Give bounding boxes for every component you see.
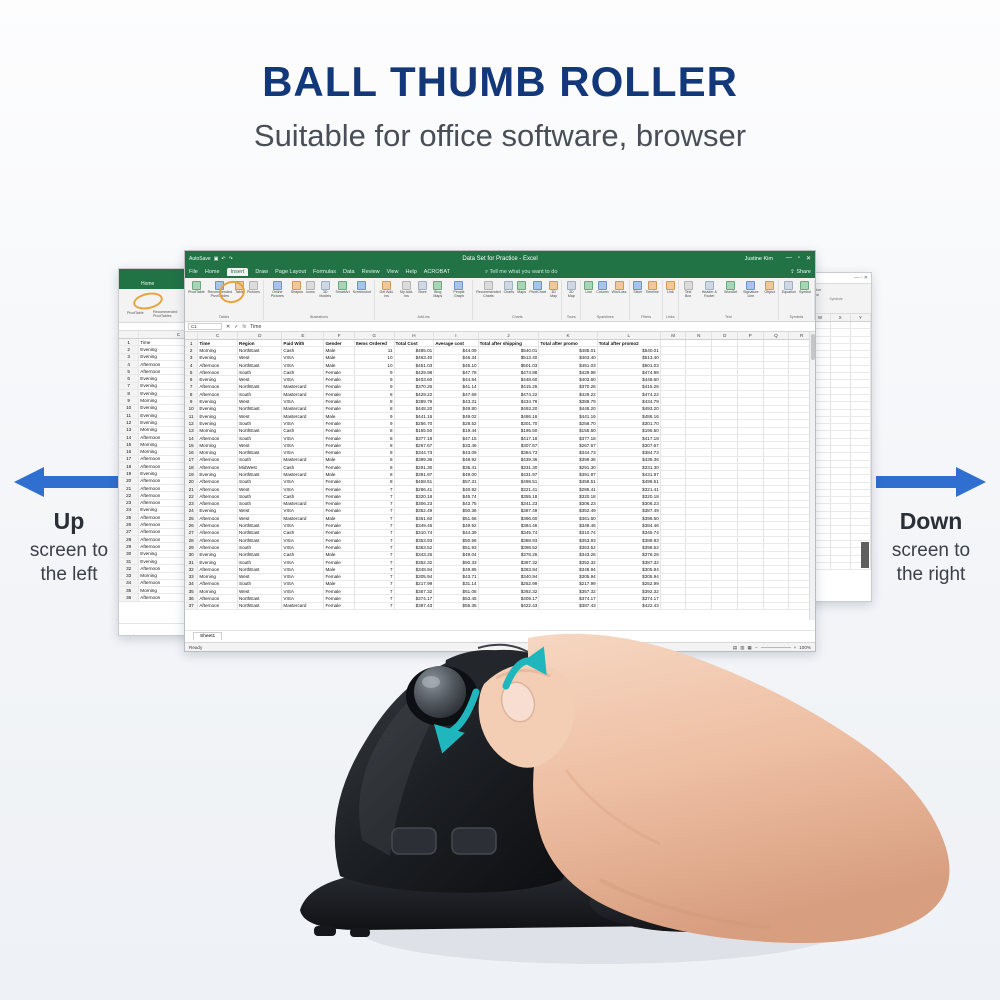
cell[interactable]: $43.71	[434, 573, 478, 580]
cell[interactable]: Female	[324, 464, 354, 471]
cell[interactable]: NorthEast	[238, 529, 282, 536]
row-header-32[interactable]: 32	[185, 566, 198, 573]
cell[interactable]: Evening	[198, 412, 238, 419]
cell[interactable]: $387.49	[478, 507, 539, 514]
column-header-E[interactable]: E	[282, 332, 324, 340]
column-header-N[interactable]: N	[686, 332, 712, 340]
cell[interactable]	[712, 537, 738, 544]
cell[interactable]	[737, 347, 763, 354]
cell[interactable]	[763, 493, 789, 500]
cell[interactable]	[686, 500, 712, 507]
cell[interactable]: $485.01	[539, 347, 597, 354]
cell[interactable]	[850, 322, 870, 329]
cell[interactable]	[830, 358, 850, 365]
cell[interactable]	[686, 471, 712, 478]
ribbon-button-slicer[interactable]: Slicer	[633, 281, 642, 295]
cell[interactable]	[850, 497, 870, 504]
cell[interactable]	[686, 340, 712, 347]
cell[interactable]: Female	[324, 493, 354, 500]
cell[interactable]: NorthEast	[238, 427, 282, 434]
cell[interactable]: Afternoon	[198, 515, 238, 522]
cell[interactable]	[830, 336, 850, 343]
ribbon-button-equation[interactable]: Equation	[782, 281, 796, 295]
background-row-header-28[interactable]: 28	[119, 536, 139, 543]
cell[interactable]: Afternoon	[198, 595, 238, 602]
cell[interactable]	[737, 537, 763, 544]
cell[interactable]: $429.22	[394, 391, 434, 398]
vertical-scrollbar[interactable]	[809, 332, 815, 620]
cell[interactable]: Afternoon	[198, 478, 238, 485]
cell[interactable]: $345.74	[597, 529, 660, 536]
ribbon-button-signature-line[interactable]: Signature Line	[740, 281, 761, 298]
cell[interactable]: Morning	[198, 449, 238, 456]
ribbon-button-pictures[interactable]: Pictures	[247, 281, 260, 295]
background-row-header-6[interactable]: 6	[119, 375, 139, 382]
cell[interactable]	[660, 361, 686, 368]
cell[interactable]	[763, 434, 789, 441]
cell[interactable]: $396.60	[597, 515, 660, 522]
formula-content[interactable]: Time	[250, 324, 261, 330]
cell[interactable]: $448.60	[597, 376, 660, 383]
cell[interactable]	[660, 500, 686, 507]
cell[interactable]	[712, 369, 738, 376]
cell[interactable]	[686, 449, 712, 456]
cell[interactable]: $320.18	[539, 493, 597, 500]
background-row-header-8[interactable]: 8	[119, 390, 139, 397]
background-row-header-15[interactable]: 15	[119, 441, 139, 448]
cell[interactable]: Cash	[282, 369, 324, 376]
table-row[interactable]: 1TimeRegionPaid WithGenderItems OrderedT…	[185, 340, 815, 347]
cell[interactable]: $387.32	[478, 558, 539, 565]
cell[interactable]	[830, 438, 850, 445]
cell[interactable]: South	[238, 544, 282, 551]
cell[interactable]	[660, 478, 686, 485]
cell[interactable]: 9	[354, 420, 394, 427]
cell[interactable]	[763, 449, 789, 456]
cell[interactable]	[763, 551, 789, 558]
cell[interactable]: NorthEast	[238, 361, 282, 368]
cell[interactable]	[686, 522, 712, 529]
cell[interactable]	[763, 369, 789, 376]
ribbon-button-screenshot[interactable]: Screenshot	[353, 281, 371, 295]
cell[interactable]	[712, 558, 738, 565]
cell[interactable]: $252.99	[597, 580, 660, 587]
column-header-I[interactable]: I	[434, 332, 478, 340]
cell[interactable]	[830, 394, 850, 401]
cell[interactable]	[660, 522, 686, 529]
cell[interactable]: $389.79	[394, 398, 434, 405]
cell[interactable]: $361.60	[539, 515, 597, 522]
cell[interactable]: $392.32	[597, 588, 660, 595]
cell[interactable]: Afternoon	[198, 566, 238, 573]
cell[interactable]: Female	[324, 573, 354, 580]
background-row-header-29[interactable]: 29	[119, 543, 139, 550]
column-header-J[interactable]: J	[478, 332, 539, 340]
cell[interactable]	[850, 453, 870, 460]
cell[interactable]: Cash	[282, 551, 324, 558]
cell[interactable]: $434.79	[478, 398, 539, 405]
row-header-3[interactable]: 3	[185, 354, 198, 361]
ribbon-button-smartart[interactable]: SmartArt	[336, 281, 350, 295]
cell[interactable]	[712, 478, 738, 485]
cell[interactable]: Region	[238, 340, 282, 347]
row-header-6[interactable]: 6	[185, 376, 198, 383]
cell[interactable]: $155.50	[539, 427, 597, 434]
cell[interactable]: South	[238, 493, 282, 500]
cell[interactable]: $51.93	[434, 544, 478, 551]
background-row-header-33[interactable]: 33	[119, 572, 139, 579]
background-row-header-9[interactable]: 9	[119, 397, 139, 404]
cell[interactable]	[660, 580, 686, 587]
cell[interactable]	[850, 424, 870, 431]
cell[interactable]: VISA	[282, 522, 324, 529]
column-header-O[interactable]: O	[712, 332, 738, 340]
cell[interactable]: $387.49	[597, 507, 660, 514]
cell[interactable]: Male	[324, 347, 354, 354]
cell[interactable]: $501.03	[478, 361, 539, 368]
cell[interactable]	[660, 456, 686, 463]
ribbon-tab-formulas[interactable]: Formulas	[313, 269, 336, 275]
cell[interactable]: $415.26	[478, 383, 539, 390]
cell[interactable]: Female	[324, 383, 354, 390]
ribbon-tab-home[interactable]: Home	[205, 269, 220, 275]
row-header-29[interactable]: 29	[185, 544, 198, 551]
background-row-header-24[interactable]: 24	[119, 506, 139, 513]
cell[interactable]: $439.36	[597, 456, 660, 463]
cell[interactable]: Afternoon	[198, 493, 238, 500]
cell[interactable]	[712, 456, 738, 463]
cell[interactable]: $431.97	[597, 471, 660, 478]
cell[interactable]: South	[238, 434, 282, 441]
background-row-header-10[interactable]: 10	[119, 404, 139, 411]
cell[interactable]: Morning	[198, 573, 238, 580]
table-row[interactable]: 19EveningNorthEastMastercardMale8$391.97…	[185, 471, 815, 478]
row-header-15[interactable]: 15	[185, 442, 198, 449]
cell[interactable]: $307.67	[478, 442, 539, 449]
cell[interactable]	[830, 380, 850, 387]
cell[interactable]	[830, 329, 850, 336]
row-header-9[interactable]: 9	[185, 398, 198, 405]
cell[interactable]: Total Cost	[394, 340, 434, 347]
cell[interactable]	[737, 420, 763, 427]
table-row[interactable]: 23AfternoonSouthMastercardFemale7$306.23…	[185, 500, 815, 507]
cell[interactable]: Male	[324, 551, 354, 558]
side-button-back[interactable]	[392, 828, 436, 854]
cell[interactable]	[763, 544, 789, 551]
window-buttons[interactable]: — ▫ ✕	[786, 255, 811, 262]
cell[interactable]: $49.92	[434, 456, 478, 463]
cell[interactable]	[830, 365, 850, 372]
cell[interactable]: $331.30	[597, 464, 660, 471]
ribbon-button-pivottable[interactable]: PivotTable	[188, 281, 205, 295]
table-row[interactable]: 11EveningWestMastercardMale9$441.16$49.0…	[185, 412, 815, 419]
background-row-header-30[interactable]: 30	[119, 550, 139, 557]
table-row[interactable]: 6EveningWestVISAFemale9$403.60$44.84$448…	[185, 376, 815, 383]
cell[interactable]: NorthEast	[238, 602, 282, 609]
cell[interactable]	[830, 489, 850, 496]
cell[interactable]: Afternoon	[198, 464, 238, 471]
cell[interactable]: 8	[354, 405, 394, 412]
cell[interactable]: 7	[354, 595, 394, 602]
cell[interactable]: 8	[354, 442, 394, 449]
cell[interactable]	[850, 373, 870, 380]
ribbon-button-symbol[interactable]: Symbol	[799, 281, 811, 295]
cell[interactable]	[660, 515, 686, 522]
cell[interactable]: $389.79	[539, 398, 597, 405]
cell[interactable]	[830, 548, 850, 555]
cell[interactable]: NorthEast	[238, 537, 282, 544]
cell[interactable]: $493.20	[478, 405, 539, 412]
cell[interactable]: West	[238, 573, 282, 580]
cell[interactable]: $47.69	[434, 391, 478, 398]
cell[interactable]: $493.20	[597, 405, 660, 412]
cell[interactable]: West	[238, 442, 282, 449]
cell[interactable]	[763, 500, 789, 507]
cell[interactable]: $387.32	[597, 558, 660, 565]
cell[interactable]: Mastercard	[282, 391, 324, 398]
cell[interactable]: $388.93	[597, 537, 660, 544]
cell[interactable]: West	[238, 412, 282, 419]
cell[interactable]	[830, 453, 850, 460]
cell[interactable]: 8	[354, 456, 394, 463]
cell[interactable]	[712, 464, 738, 471]
row-header-27[interactable]: 27	[185, 529, 198, 536]
cell[interactable]	[830, 482, 850, 489]
cell[interactable]: $448.20	[539, 405, 597, 412]
cell[interactable]	[737, 464, 763, 471]
cell[interactable]: NorthEast	[238, 551, 282, 558]
cell[interactable]	[763, 420, 789, 427]
row-header-2[interactable]: 2	[185, 347, 198, 354]
cell[interactable]: 11	[354, 347, 394, 354]
cell[interactable]: Evening	[198, 398, 238, 405]
cell[interactable]	[763, 347, 789, 354]
cell[interactable]	[850, 504, 870, 511]
cell[interactable]	[737, 478, 763, 485]
cell[interactable]	[850, 365, 870, 372]
cell[interactable]: $388.93	[478, 537, 539, 544]
cell[interactable]: $50.56	[434, 537, 478, 544]
cell[interactable]: $341.23	[478, 500, 539, 507]
cell[interactable]: $374.17	[394, 595, 434, 602]
cell[interactable]	[712, 544, 738, 551]
row-header-34[interactable]: 34	[185, 580, 198, 587]
cell[interactable]: $513.40	[478, 354, 539, 361]
cell[interactable]: $31.14	[434, 580, 478, 587]
cell[interactable]: NorthEast	[238, 595, 282, 602]
column-header-M[interactable]: M	[660, 332, 686, 340]
cell[interactable]: $403.60	[394, 376, 434, 383]
ribbon[interactable]: PivotTableRecommended PivotTablesTablePi…	[185, 278, 815, 322]
cell[interactable]: South	[238, 420, 282, 427]
cell[interactable]: Total after promo2	[597, 340, 660, 347]
column-header-D[interactable]: D	[238, 332, 282, 340]
cell[interactable]: VISA	[282, 485, 324, 492]
cell[interactable]: $377.18	[394, 434, 434, 441]
cell[interactable]: $310.74	[394, 529, 434, 536]
cell[interactable]: $345.74	[478, 529, 539, 536]
cell[interactable]	[737, 456, 763, 463]
cell[interactable]: $374.17	[597, 595, 660, 602]
cell[interactable]: Female	[324, 405, 354, 412]
cell[interactable]	[850, 475, 870, 482]
cell[interactable]: $51.05	[434, 588, 478, 595]
cell[interactable]	[763, 515, 789, 522]
cell[interactable]: $306.23	[539, 500, 597, 507]
cell[interactable]: Female	[324, 558, 354, 565]
ribbon-tab-file[interactable]: File	[189, 269, 198, 275]
cell[interactable]	[763, 588, 789, 595]
cell[interactable]: $45.74	[434, 493, 478, 500]
cell[interactable]	[660, 464, 686, 471]
cell[interactable]: $391.97	[394, 471, 434, 478]
cell[interactable]	[737, 361, 763, 368]
cell[interactable]: $320.18	[394, 493, 434, 500]
cell[interactable]: VISA	[282, 376, 324, 383]
cell[interactable]	[830, 475, 850, 482]
cell[interactable]: $463.40	[539, 354, 597, 361]
table-row[interactable]: 22AfternoonSouthCashFemale7$320.18$45.74…	[185, 493, 815, 500]
cell[interactable]	[763, 391, 789, 398]
background-right-window-buttons[interactable]: — ▫ ✕	[854, 275, 868, 281]
cell[interactable]	[686, 434, 712, 441]
cell[interactable]	[712, 354, 738, 361]
cell[interactable]	[737, 595, 763, 602]
table-row[interactable]: 31EveningSouthVISAFemale7$352.32$50.33$3…	[185, 558, 815, 565]
cell[interactable]	[686, 420, 712, 427]
cell[interactable]	[660, 566, 686, 573]
cell[interactable]: Evening	[198, 420, 238, 427]
cell[interactable]: $448.60	[478, 376, 539, 383]
cell[interactable]	[686, 361, 712, 368]
cell[interactable]	[660, 507, 686, 514]
background-row-header-17[interactable]: 17	[119, 455, 139, 462]
row-header-35[interactable]: 35	[185, 588, 198, 595]
row-header-25[interactable]: 25	[185, 515, 198, 522]
background-row-header-31[interactable]: 31	[119, 557, 139, 564]
cell[interactable]: $357.32	[539, 588, 597, 595]
cell[interactable]: $540.01	[597, 347, 660, 354]
cell[interactable]: $267.67	[394, 442, 434, 449]
cell[interactable]: Mastercard	[282, 602, 324, 609]
table-row[interactable]: 26AfternoonNorthEastVISAFemale7$349.46$4…	[185, 522, 815, 529]
cell[interactable]	[763, 354, 789, 361]
cell[interactable]	[660, 544, 686, 551]
cell[interactable]: Female	[324, 588, 354, 595]
cell[interactable]: $374.17	[539, 595, 597, 602]
cell[interactable]	[737, 566, 763, 573]
insert-function-icon[interactable]: fx	[242, 324, 246, 330]
cell[interactable]	[763, 580, 789, 587]
table-row[interactable]: 15MorningWestVISAFemale8$267.67$33.46$30…	[185, 442, 815, 449]
cell[interactable]	[850, 416, 870, 423]
cell[interactable]: 10	[354, 361, 394, 368]
cell[interactable]	[660, 405, 686, 412]
table-row[interactable]: 5AfternoonSouthCashFemale9$429.98$47.78$…	[185, 369, 815, 376]
cell[interactable]: NorthEast	[238, 383, 282, 390]
cell[interactable]	[686, 515, 712, 522]
cell[interactable]: South	[238, 369, 282, 376]
cell[interactable]	[712, 485, 738, 492]
cell[interactable]: Female	[324, 427, 354, 434]
ribbon-button-column[interactable]: Column	[596, 281, 608, 295]
cell[interactable]	[737, 529, 763, 536]
cell[interactable]: $286.41	[539, 485, 597, 492]
cell[interactable]	[830, 351, 850, 358]
cell[interactable]: $448.20	[394, 405, 434, 412]
ribbon-button-text-box[interactable]: Text Box	[682, 281, 695, 298]
row-header-4[interactable]: 4	[185, 361, 198, 368]
cell[interactable]: $256.70	[394, 420, 434, 427]
cell[interactable]: $155.50	[394, 427, 434, 434]
cell[interactable]	[712, 427, 738, 434]
column-header-K[interactable]: K	[539, 332, 597, 340]
row-header-1[interactable]: 1	[185, 340, 198, 347]
cell[interactable]	[686, 405, 712, 412]
cell[interactable]	[686, 391, 712, 398]
ribbon-button-get-add-ins[interactable]: Get Add-ins	[378, 281, 395, 298]
share-button[interactable]: ⇪ Share	[790, 269, 811, 275]
cell[interactable]: Afternoon	[198, 485, 238, 492]
cell[interactable]: $417.18	[597, 434, 660, 441]
cell[interactable]: $49.85	[434, 566, 478, 573]
cell[interactable]	[737, 412, 763, 419]
cell[interactable]	[763, 522, 789, 529]
background-row-header-27[interactable]: 27	[119, 528, 139, 535]
row-header-28[interactable]: 28	[185, 537, 198, 544]
cell[interactable]: $348.94	[539, 566, 597, 573]
cell[interactable]	[850, 329, 870, 336]
cell[interactable]: Total after shipping	[478, 340, 539, 347]
cell[interactable]	[660, 485, 686, 492]
cell[interactable]	[850, 533, 870, 540]
cell[interactable]: $434.79	[597, 398, 660, 405]
background-row-header-20[interactable]: 20	[119, 477, 139, 484]
row-header-23[interactable]: 23	[185, 500, 198, 507]
cell[interactable]	[850, 343, 870, 350]
row-header-22[interactable]: 22	[185, 493, 198, 500]
background-row-header-32[interactable]: 32	[119, 565, 139, 572]
table-row[interactable]: 24EveningWestVISAFemale7$352.49$50.36$38…	[185, 507, 815, 514]
row-header-19[interactable]: 19	[185, 471, 198, 478]
table-row[interactable]: 18AfternoonMidWestCashFemale8$291.30$36.…	[185, 464, 815, 471]
cell[interactable]: Female	[324, 434, 354, 441]
cell[interactable]	[737, 485, 763, 492]
cell[interactable]: 7	[354, 537, 394, 544]
cell[interactable]	[830, 562, 850, 569]
cell[interactable]: Male	[324, 354, 354, 361]
cell[interactable]	[850, 446, 870, 453]
cell[interactable]	[763, 478, 789, 485]
cell[interactable]	[660, 354, 686, 361]
cell[interactable]: $485.01	[394, 347, 434, 354]
cell[interactable]: $43.31	[434, 398, 478, 405]
cell[interactable]: $44.09	[434, 347, 478, 354]
cell[interactable]: 7	[354, 522, 394, 529]
cell[interactable]: $43.75	[434, 500, 478, 507]
cell[interactable]: VISA	[282, 588, 324, 595]
cell[interactable]: $331.30	[478, 464, 539, 471]
cell[interactable]: 8	[354, 427, 394, 434]
cell[interactable]	[850, 402, 870, 409]
cell[interactable]: $361.60	[394, 515, 434, 522]
cell[interactable]	[660, 398, 686, 405]
ribbon-button-icons[interactable]: Icons	[306, 281, 315, 295]
cell[interactable]: $363.52	[394, 544, 434, 551]
cell[interactable]	[737, 471, 763, 478]
cell[interactable]	[686, 493, 712, 500]
cell[interactable]	[830, 387, 850, 394]
